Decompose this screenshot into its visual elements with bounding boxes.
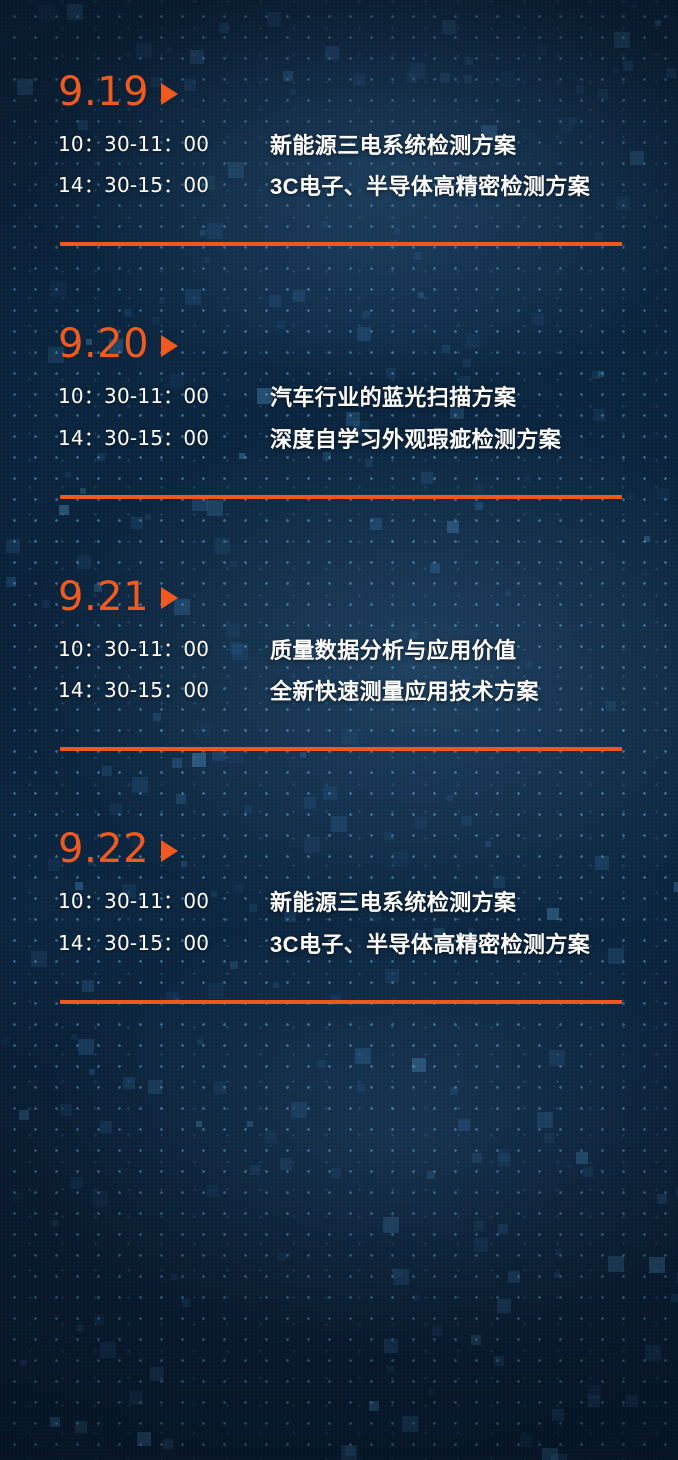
section-divider [60, 1000, 622, 1004]
session-time: 14：30-15：00 [58, 424, 270, 454]
day-date: 9.21 [58, 577, 149, 617]
day-date: 9.20 [58, 324, 149, 364]
session-row[interactable]: 14：30-15：00 3C电子、半导体高精密检测方案 [0, 171, 678, 202]
session-title: 汽车行业的蓝光扫描方案 [270, 382, 678, 413]
play-triangle-icon [161, 587, 178, 609]
session-title: 3C电子、半导体高精密检测方案 [270, 929, 678, 960]
session-title: 新能源三电系统检测方案 [270, 130, 678, 161]
day-header[interactable]: 9.22 [0, 829, 678, 869]
session-time: 10：30-11：00 [58, 887, 270, 917]
day-header[interactable]: 9.21 [0, 577, 678, 617]
session-row[interactable]: 10：30-11：00 新能源三电系统检测方案 [0, 887, 678, 918]
session-time: 14：30-15：00 [58, 171, 270, 201]
day-header[interactable]: 9.19 [0, 72, 678, 112]
day-date: 9.19 [58, 72, 149, 112]
play-triangle-icon [161, 83, 178, 105]
session-row[interactable]: 10：30-11：00 质量数据分析与应用价值 [0, 635, 678, 666]
session-time: 14：30-15：00 [58, 929, 270, 959]
session-title: 全新快速测量应用技术方案 [270, 676, 678, 707]
session-time: 14：30-15：00 [58, 676, 270, 706]
play-triangle-icon [161, 335, 178, 357]
session-row[interactable]: 14：30-15：00 深度自学习外观瑕疵检测方案 [0, 424, 678, 455]
session-list: 10：30-11：00 质量数据分析与应用价值 14：30-15：00 全新快速… [0, 635, 678, 707]
session-row[interactable]: 14：30-15：00 全新快速测量应用技术方案 [0, 676, 678, 707]
day-block: 9.22 10：30-11：00 新能源三电系统检测方案 14：30-15：00… [0, 751, 678, 1003]
day-block: 9.21 10：30-11：00 质量数据分析与应用价值 14：30-15：00… [0, 499, 678, 751]
session-list: 10：30-11：00 新能源三电系统检测方案 14：30-15：00 3C电子… [0, 130, 678, 202]
day-block: 9.20 10：30-11：00 汽车行业的蓝光扫描方案 14：30-15：00… [0, 246, 678, 498]
session-title: 新能源三电系统检测方案 [270, 887, 678, 918]
session-row[interactable]: 14：30-15：00 3C电子、半导体高精密检测方案 [0, 929, 678, 960]
session-time: 10：30-11：00 [58, 635, 270, 665]
schedule-poster: 9.19 10：30-11：00 新能源三电系统检测方案 14：30-15：00… [0, 0, 678, 1460]
session-title: 3C电子、半导体高精密检测方案 [270, 171, 678, 202]
play-triangle-icon [161, 840, 178, 862]
session-list: 10：30-11：00 汽车行业的蓝光扫描方案 14：30-15：00 深度自学… [0, 382, 678, 454]
session-list: 10：30-11：00 新能源三电系统检测方案 14：30-15：00 3C电子… [0, 887, 678, 959]
day-date: 9.22 [58, 829, 149, 869]
day-header[interactable]: 9.20 [0, 324, 678, 364]
day-block: 9.19 10：30-11：00 新能源三电系统检测方案 14：30-15：00… [0, 0, 678, 246]
schedule-content: 9.19 10：30-11：00 新能源三电系统检测方案 14：30-15：00… [0, 0, 678, 1004]
session-row[interactable]: 10：30-11：00 新能源三电系统检测方案 [0, 130, 678, 161]
session-title: 深度自学习外观瑕疵检测方案 [270, 424, 678, 455]
session-time: 10：30-11：00 [58, 382, 270, 412]
session-time: 10：30-11：00 [58, 130, 270, 160]
session-title: 质量数据分析与应用价值 [270, 635, 678, 666]
session-row[interactable]: 10：30-11：00 汽车行业的蓝光扫描方案 [0, 382, 678, 413]
